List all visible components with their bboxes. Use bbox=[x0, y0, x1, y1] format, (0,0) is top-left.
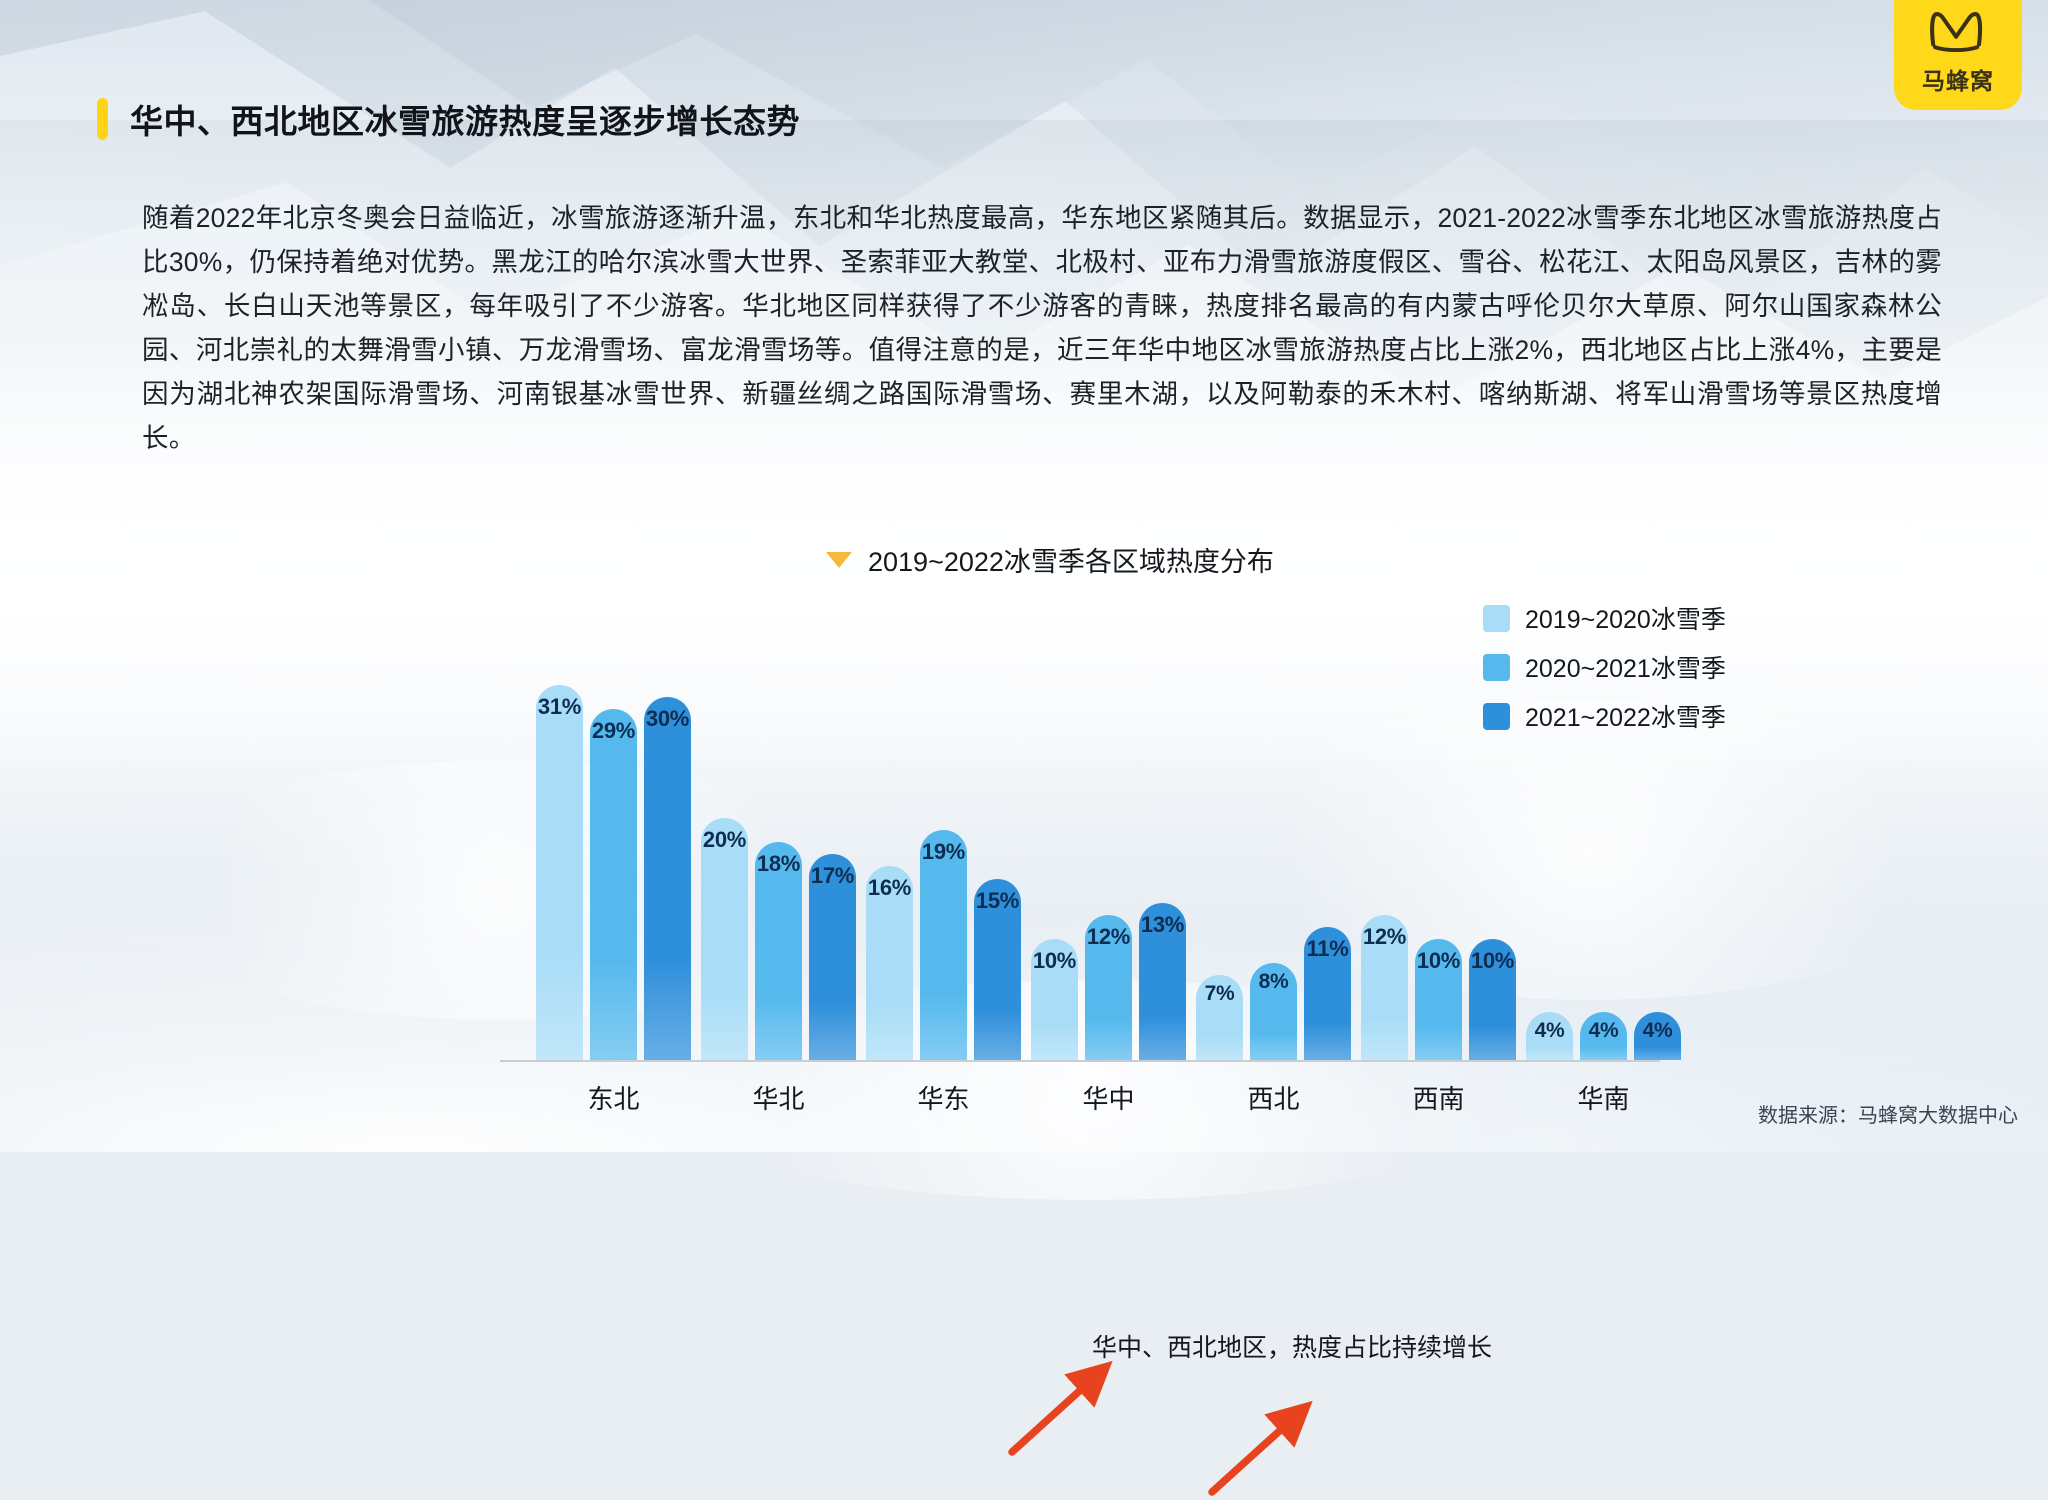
bar-group-西北: 7%8%11% bbox=[1196, 927, 1351, 1060]
bar-value-label: 10% bbox=[1417, 948, 1460, 974]
bar-value-label: 15% bbox=[976, 888, 1019, 914]
bar-value-label: 20% bbox=[703, 827, 746, 853]
bar-华北-3[interactable]: 17% bbox=[809, 854, 856, 1060]
bar-东北-2[interactable]: 29% bbox=[590, 709, 637, 1060]
x-axis-label-华南: 华南 bbox=[1504, 1079, 1704, 1116]
bar-华南-2[interactable]: 4% bbox=[1580, 1012, 1627, 1060]
bar-value-label: 4% bbox=[1589, 1019, 1619, 1043]
title-accent-bar bbox=[97, 98, 108, 140]
bar-value-label: 16% bbox=[868, 875, 911, 901]
bar-value-label: 10% bbox=[1033, 948, 1076, 974]
chart-plot-area: 31%29%30%东北20%18%17%华北16%19%15%华东10%12%1… bbox=[0, 520, 2048, 1140]
bar-华中-2[interactable]: 12% bbox=[1085, 915, 1132, 1060]
bar-东北-3[interactable]: 30% bbox=[644, 697, 691, 1060]
body-paragraph: 随着2022年北京冬奥会日益临近，冰雪旅游逐渐升温，东北和华北热度最高，华东地区… bbox=[142, 196, 1942, 460]
bar-华北-2[interactable]: 18% bbox=[755, 842, 802, 1060]
bar-value-label: 11% bbox=[1307, 936, 1349, 962]
bar-华南-1[interactable]: 4% bbox=[1526, 1012, 1573, 1060]
bar-华南-3[interactable]: 4% bbox=[1634, 1012, 1681, 1060]
bar-value-label: 4% bbox=[1643, 1019, 1673, 1043]
brand-name: 马蜂窝 bbox=[1922, 62, 1994, 96]
bar-value-label: 19% bbox=[922, 839, 965, 865]
bar-华东-1[interactable]: 16% bbox=[866, 866, 913, 1060]
bar-华中-1[interactable]: 10% bbox=[1031, 939, 1078, 1060]
bar-group-华北: 20%18%17% bbox=[701, 818, 856, 1060]
bar-西南-2[interactable]: 10% bbox=[1415, 939, 1462, 1060]
page-title: 华中、西北地区冰雪旅游热度呈逐步增长态势 bbox=[97, 95, 800, 143]
bar-value-label: 10% bbox=[1471, 948, 1514, 974]
bar-东北-1[interactable]: 31% bbox=[536, 685, 583, 1060]
title-text: 华中、西北地区冰雪旅游热度呈逐步增长态势 bbox=[130, 95, 800, 143]
bar-华东-3[interactable]: 15% bbox=[974, 879, 1021, 1061]
brand-logo: 马蜂窝 bbox=[1894, 0, 2022, 110]
bar-group-华南: 4%4%4% bbox=[1526, 1012, 1681, 1060]
bar-西南-1[interactable]: 12% bbox=[1361, 915, 1408, 1060]
bar-华东-2[interactable]: 19% bbox=[920, 830, 967, 1060]
bar-value-label: 7% bbox=[1205, 982, 1235, 1006]
bar-group-西南: 12%10%10% bbox=[1361, 915, 1516, 1060]
bar-value-label: 4% bbox=[1535, 1019, 1565, 1043]
bar-value-label: 8% bbox=[1259, 970, 1289, 994]
chart-annotation-text: 华中、西北地区，热度占比持续增长 bbox=[1092, 1328, 1492, 1364]
crown-m-icon bbox=[1927, 10, 1989, 52]
bar-西北-2[interactable]: 8% bbox=[1250, 963, 1297, 1060]
bar-value-label: 30% bbox=[646, 706, 689, 732]
x-axis-line bbox=[500, 1060, 1660, 1062]
growth-arrow-icon-huazhong bbox=[1004, 1360, 1114, 1460]
data-source-note: 数据来源：马蜂窝大数据中心 bbox=[1758, 1099, 2018, 1128]
bar-group-华中: 10%12%13% bbox=[1031, 903, 1186, 1060]
bar-value-label: 17% bbox=[811, 863, 854, 889]
bar-value-label: 29% bbox=[592, 718, 635, 744]
bar-西北-3[interactable]: 11% bbox=[1304, 927, 1351, 1060]
bar-value-label: 12% bbox=[1363, 924, 1406, 950]
growth-arrow-icon-xibei bbox=[1204, 1400, 1314, 1500]
bar-group-华东: 16%19%15% bbox=[866, 830, 1021, 1060]
bar-value-label: 31% bbox=[538, 694, 581, 720]
bar-value-label: 12% bbox=[1087, 924, 1130, 950]
bar-华中-3[interactable]: 13% bbox=[1139, 903, 1186, 1060]
chart-container: 2019~2022冰雪季各区域热度分布 2019~2020冰雪季 2020~20… bbox=[0, 520, 2048, 1140]
bar-华北-1[interactable]: 20% bbox=[701, 818, 748, 1060]
bar-西南-3[interactable]: 10% bbox=[1469, 939, 1516, 1060]
bar-西北-1[interactable]: 7% bbox=[1196, 975, 1243, 1060]
bar-value-label: 18% bbox=[757, 851, 800, 877]
bar-value-label: 13% bbox=[1141, 912, 1184, 938]
bar-group-东北: 31%29%30% bbox=[536, 685, 691, 1060]
